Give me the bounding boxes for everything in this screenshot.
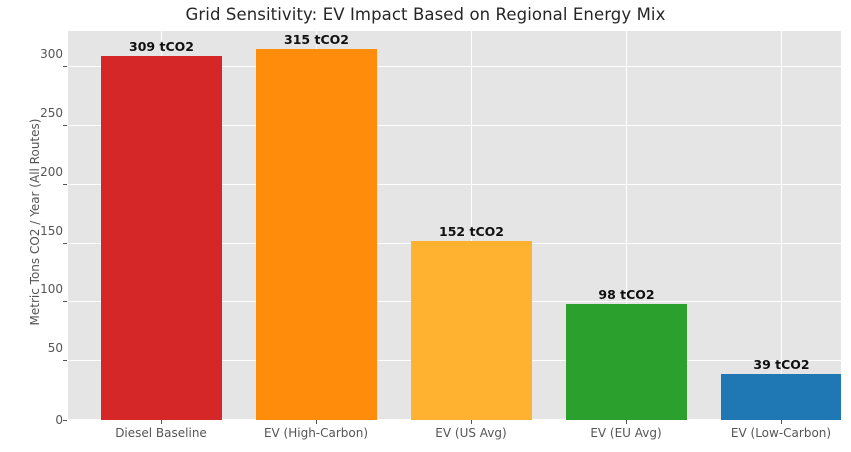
y-tick-label: 0 (23, 414, 63, 426)
y-tick-label: 100 (23, 283, 63, 295)
x-tick-label-diesel-baseline: Diesel Baseline (81, 426, 241, 440)
bar-diesel-baseline[interactable] (101, 56, 222, 420)
y-axis-ticks: 300 250 200 150 100 50 0 (13, 0, 63, 452)
y-tick-mark (63, 360, 67, 361)
bar-ev-high-carbon[interactable] (256, 49, 377, 420)
bar-ev-low-carbon[interactable] (721, 374, 841, 420)
bar-ev-eu-avg[interactable] (566, 304, 687, 420)
y-tick-mark (63, 301, 67, 302)
bar-value-label: 315 tCO2 (256, 32, 377, 47)
bar-value-label: 98 tCO2 (566, 287, 687, 302)
x-tick-mark (626, 420, 627, 424)
bar-ev-us-avg[interactable] (411, 241, 532, 420)
x-tick-label-ev-eu-avg: EV (EU Avg) (546, 426, 706, 440)
y-tick-mark (63, 420, 67, 421)
y-tick-mark (63, 125, 67, 126)
y-tick-label: 150 (23, 225, 63, 237)
y-tick-label: 50 (23, 342, 63, 354)
x-tick-mark (781, 420, 782, 424)
bar-value-label: 152 tCO2 (411, 224, 532, 239)
chart-title: Grid Sensitivity: EV Impact Based on Reg… (0, 5, 851, 24)
y-tick-label: 250 (23, 107, 63, 119)
y-tick-mark (63, 66, 67, 67)
y-tick-label: 200 (23, 166, 63, 178)
x-tick-mark (316, 420, 317, 424)
y-tick-mark (63, 184, 67, 185)
x-tick-label-ev-high-carbon: EV (High-Carbon) (236, 426, 396, 440)
x-tick-label-ev-low-carbon: EV (Low-Carbon) (701, 426, 851, 440)
bar-chart-figure: Grid Sensitivity: EV Impact Based on Reg… (0, 0, 851, 452)
x-tick-mark (161, 420, 162, 424)
y-tick-mark (63, 243, 67, 244)
y-tick-label: 300 (23, 48, 63, 60)
x-tick-mark (471, 420, 472, 424)
bar-value-label: 39 tCO2 (721, 357, 842, 372)
bar-value-label: 309 tCO2 (101, 39, 222, 54)
x-tick-label-ev-us-avg: EV (US Avg) (391, 426, 551, 440)
